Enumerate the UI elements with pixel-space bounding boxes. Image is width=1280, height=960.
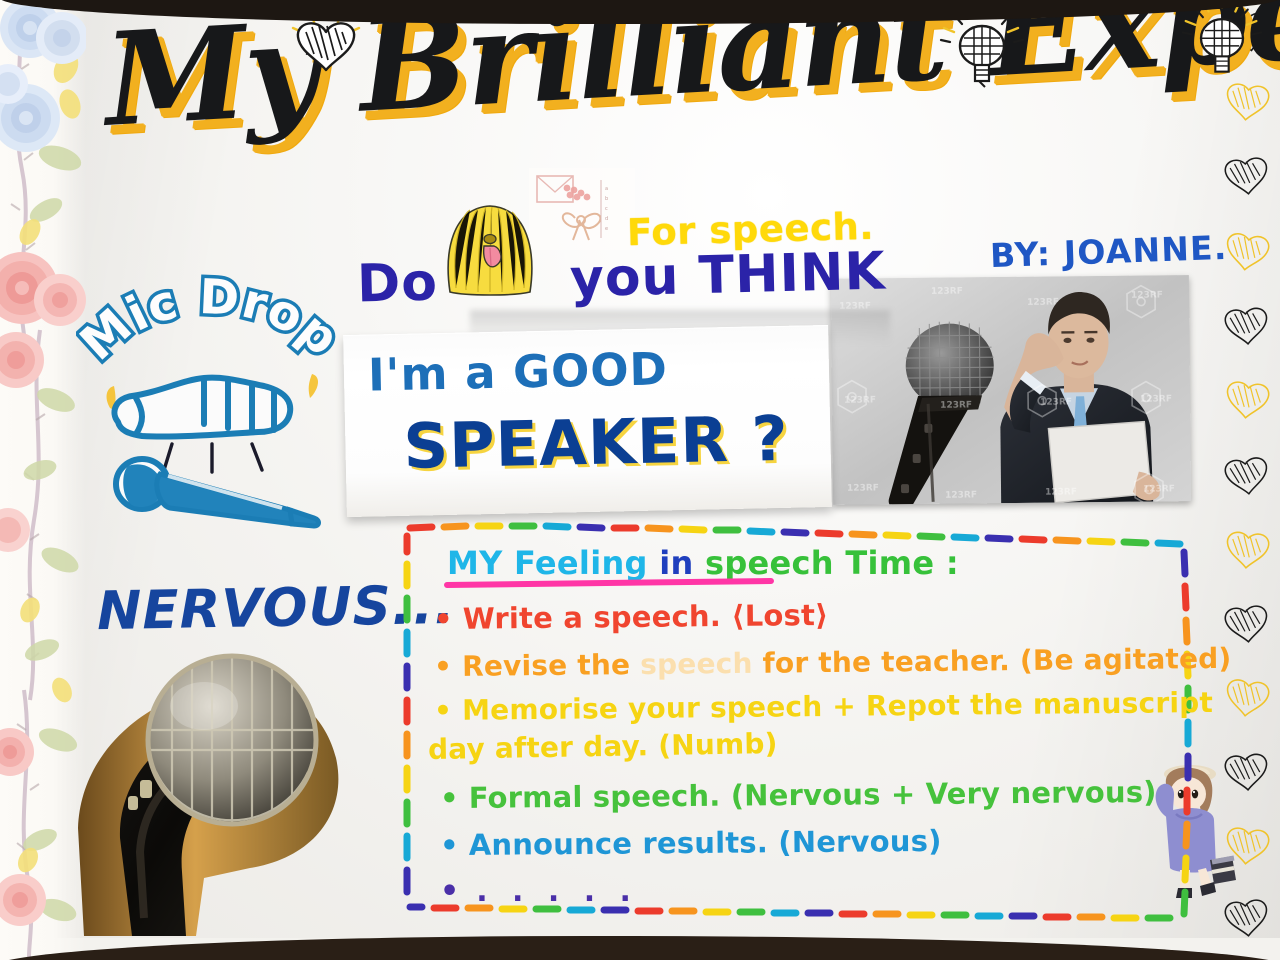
svg-text:d: d [605, 216, 608, 222]
svg-text:a: a [605, 186, 608, 192]
microphone-photo-svg [36, 648, 356, 938]
svg-text:123RF: 123RF [1045, 487, 1077, 497]
bulb-doodle-2 [1180, 0, 1264, 90]
list-item: •Announce results. (Nervous) [440, 824, 942, 862]
list-item-text: Announce results. (Nervous) [469, 824, 942, 862]
list-heading: MY Feeling in speech Time : [447, 544, 959, 582]
svg-text:123RF: 123RF [931, 286, 963, 296]
list-item-continuation: day after day. (Numb) [428, 727, 778, 766]
desk-edge-bottom [0, 936, 1280, 960]
list-item: •Write a speech. ⟨Lost⟩ [434, 598, 829, 636]
bullet-dot: • [434, 694, 452, 727]
heading-part-3: speech Time : [705, 544, 959, 582]
list-item-text: . . . . . [476, 874, 638, 909]
banner-line-2: SPEAKER ? [403, 402, 790, 483]
bullet-dot: • [440, 781, 459, 815]
heading-part-2: in [648, 544, 705, 582]
bullet-dot: • [440, 828, 459, 862]
svg-text:123RF: 123RF [1131, 290, 1163, 300]
question-prefix: Do [356, 252, 438, 314]
svg-text:123RF: 123RF [940, 400, 972, 410]
svg-text:123RF: 123RF [945, 490, 977, 500]
list-item-text: day after day. (Numb) [428, 727, 778, 766]
svg-text:b: b [605, 196, 608, 202]
list-item-text: Formal speech. (Nervous + Very nervous) [469, 775, 1157, 815]
heading-part-1: MY Feeling [447, 544, 648, 582]
poster-canvas: My Brilliant Experience [0, 0, 1280, 960]
svg-text:Mic Drop: Mic Drop [76, 269, 346, 372]
list-item: •. . . . . [440, 874, 638, 909]
list-item-text-faded: speech [640, 647, 753, 681]
svg-text:123RF: 123RF [1027, 297, 1059, 307]
mic-drop-sticker: Mic Drop Mic Drop [76, 262, 346, 532]
dash-top [410, 526, 1180, 544]
question-suffix: you THINK [569, 242, 886, 310]
svg-text:e: e [605, 226, 608, 232]
banner-line-1: I'm a GOOD [367, 342, 668, 401]
feelings-list-box: MY Feeling in speech Time : •Write a spe… [402, 522, 1192, 924]
bulb-doodle-1 [938, 8, 1026, 102]
dog-doodle [436, 192, 544, 304]
svg-text:123RF: 123RF [1140, 394, 1172, 404]
svg-text:123RF: 123RF [847, 483, 879, 493]
bullet-dot: • [434, 602, 453, 636]
svg-text:c: c [605, 206, 608, 212]
list-item-text-b: for the teacher. (Be agitated) [752, 642, 1231, 680]
dash-right [1184, 552, 1188, 914]
list-item: •Formal speech. (Nervous + Very nervous) [440, 775, 1157, 815]
bullet-dot: • [440, 874, 466, 909]
list-item-text-a: Revise the [462, 648, 640, 683]
speaker-banner: I'm a GOOD SPEAKER ? [343, 325, 832, 517]
bullet-dot: • [434, 650, 452, 683]
byline: BY: JOANNE. [989, 228, 1228, 275]
mic-drop-svg: Mic Drop Mic Drop [76, 262, 346, 532]
list-item-text: Write a speech. ⟨Lost⟩ [463, 598, 829, 636]
title-block: My Brilliant Experience [105, 6, 1280, 191]
microphone-photo [36, 648, 356, 938]
